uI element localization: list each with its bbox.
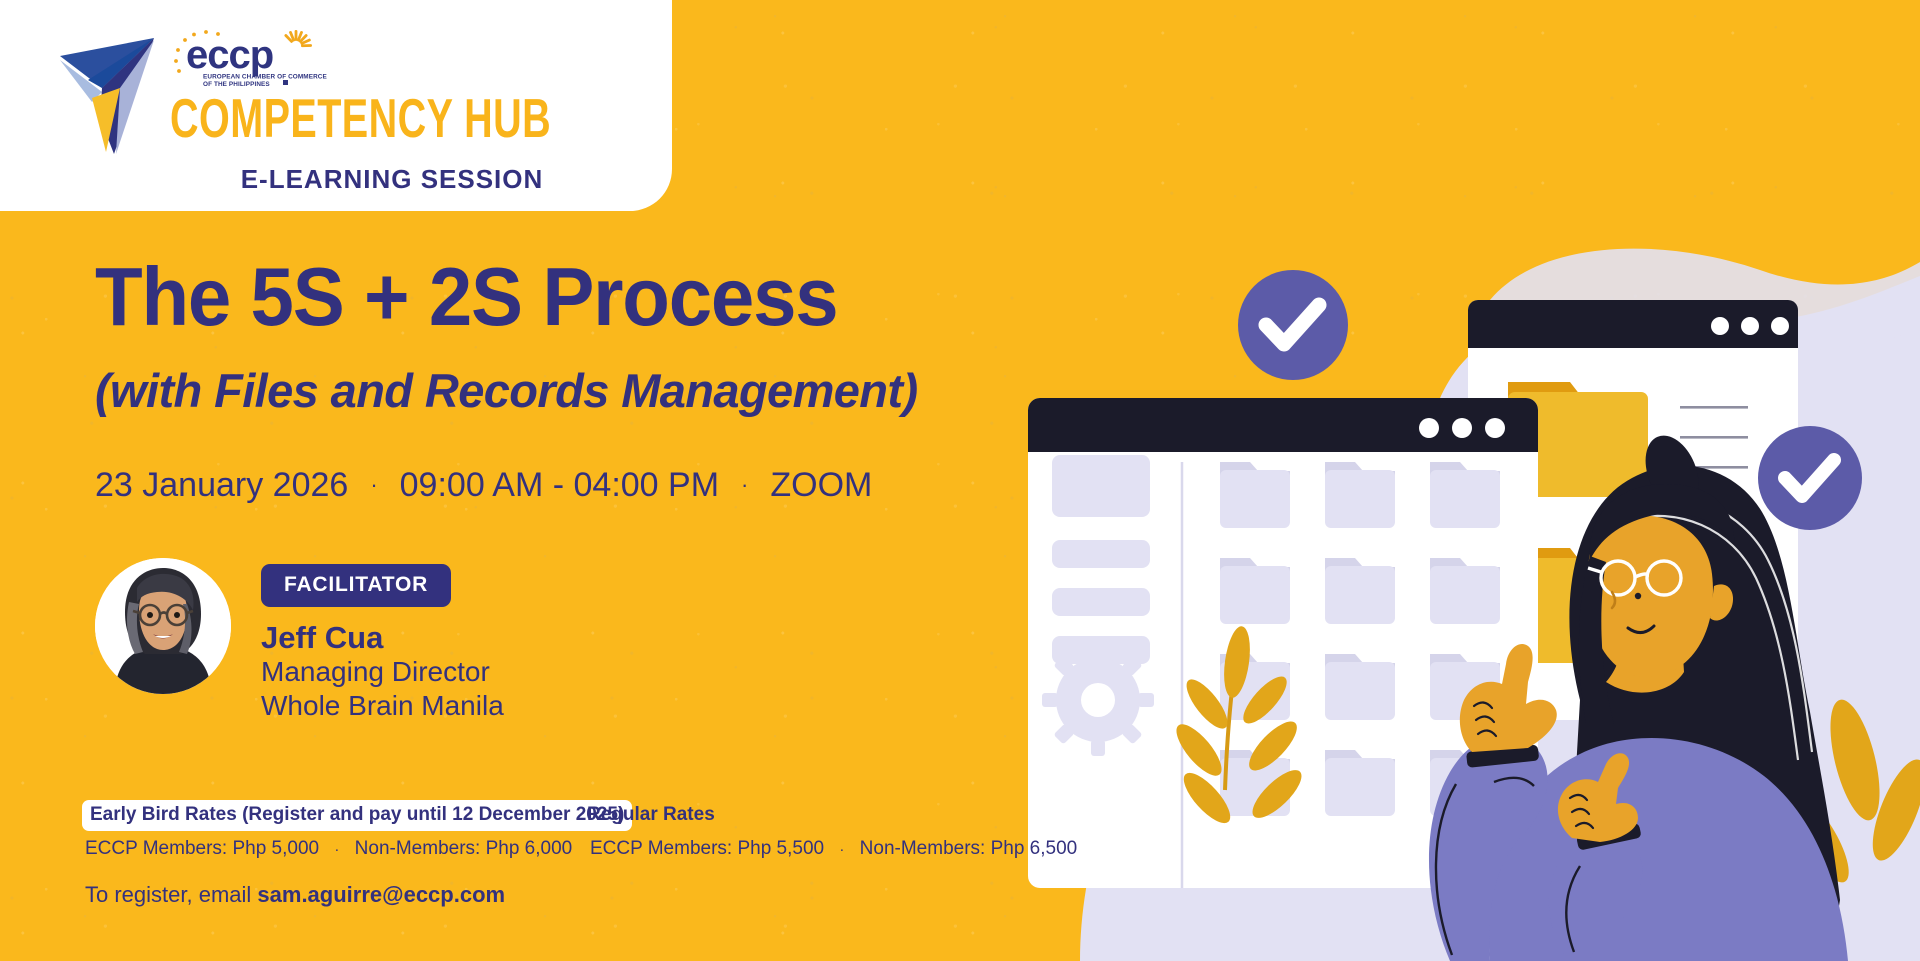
brand-text-column: eccp EUROPEAN CHAMBER OF COMMERCE OF THE… <box>170 26 613 195</box>
check-circle-icon <box>1238 270 1348 380</box>
regular-member-price: ECCP Members: Php 5,500 <box>590 838 824 859</box>
window-dot <box>1419 418 1439 438</box>
early-bird-rates: Early Bird Rates (Register and pay until… <box>82 800 587 860</box>
facilitator-name: Jeff Cua <box>261 621 504 655</box>
facilitator-organization: Whole Brain Manila <box>261 689 504 723</box>
register-email[interactable]: sam.aguirre@eccp.com <box>257 882 505 907</box>
folder-icon <box>1220 462 1290 528</box>
session-type-label: E-LEARNING SESSION <box>241 164 544 195</box>
folder-icon <box>1325 558 1395 624</box>
hero-illustration <box>1020 0 1920 961</box>
meta-separator: · <box>741 474 748 496</box>
rates-row: Early Bird Rates (Register and pay until… <box>82 800 1077 860</box>
facilitator-block: FACILITATOR Jeff Cua Managing Director W… <box>95 558 1105 723</box>
folder-icon <box>1325 654 1395 720</box>
registration-line: To register, email sam.aguirre@eccp.com <box>82 882 1077 908</box>
folder-icon <box>1220 558 1290 624</box>
sunburst-icon <box>284 30 312 47</box>
window-dot <box>1741 317 1759 335</box>
logo-lockup: eccp EUROPEAN CHAMBER OF COMMERCE OF THE… <box>58 0 613 195</box>
event-platform: ZOOM <box>770 466 872 505</box>
svg-text:EUROPEAN CHAMBER OF COMMERCE: EUROPEAN CHAMBER OF COMMERCE <box>203 74 328 81</box>
facilitator-photo <box>95 558 231 694</box>
rates-section: Early Bird Rates (Register and pay until… <box>82 800 1077 908</box>
event-date: 23 January 2026 <box>95 466 348 505</box>
window-dot <box>1485 418 1505 438</box>
program-title: COMPETENCY HUB <box>170 92 551 145</box>
regular-rates: Regular Rates ECCP Members: Php 5,500 · … <box>587 800 1077 860</box>
check-circle-icon <box>1758 426 1862 530</box>
folder-icon <box>1325 750 1395 816</box>
regular-prices: ECCP Members: Php 5,500 · Non-Members: P… <box>587 838 1077 860</box>
facilitator-role: Managing Director <box>261 655 504 689</box>
window-dot <box>1771 317 1789 335</box>
text-line <box>1680 436 1748 439</box>
status-badge: FACILITATOR <box>261 564 451 607</box>
page-title: The 5S + 2S Process <box>95 255 1105 339</box>
svg-text:eccp: eccp <box>186 33 273 77</box>
window-dot <box>1711 317 1729 335</box>
early-bird-member-price: ECCP Members: Php 5,000 <box>85 838 319 859</box>
page-subtitle: (with Files and Records Management) <box>95 363 1105 418</box>
early-bird-nonmember-price: Non-Members: Php 6,000 <box>355 838 573 859</box>
folder-icon <box>1325 462 1395 528</box>
early-bird-heading: Early Bird Rates (Register and pay until… <box>82 800 632 831</box>
regular-rates-heading: Regular Rates <box>587 800 715 831</box>
meta-separator: · <box>370 474 377 496</box>
price-separator: · <box>839 841 844 858</box>
text-line <box>1680 406 1748 409</box>
paper-plane-icon <box>58 26 166 156</box>
window-dot <box>1452 418 1472 438</box>
event-time: 09:00 AM - 04:00 PM <box>400 466 719 505</box>
brand-header-card: eccp EUROPEAN CHAMBER OF COMMERCE OF THE… <box>0 0 672 211</box>
regular-nonmember-price: Non-Members: Php 6,500 <box>860 838 1078 859</box>
event-meta: 23 January 2026 · 09:00 AM - 04:00 PM · … <box>95 466 1105 505</box>
price-separator: · <box>334 841 339 858</box>
eccp-wordmark: eccp EUROPEAN CHAMBER OF COMMERCE OF THE… <box>170 26 330 94</box>
register-prefix: To register, email <box>85 882 257 907</box>
facilitator-info: FACILITATOR Jeff Cua Managing Director W… <box>261 558 504 723</box>
folder-icon <box>1430 462 1500 528</box>
folder-icon <box>1430 558 1500 624</box>
main-content: The 5S + 2S Process (with Files and Reco… <box>95 255 1105 723</box>
early-bird-prices: ECCP Members: Php 5,000 · Non-Members: P… <box>82 838 587 860</box>
